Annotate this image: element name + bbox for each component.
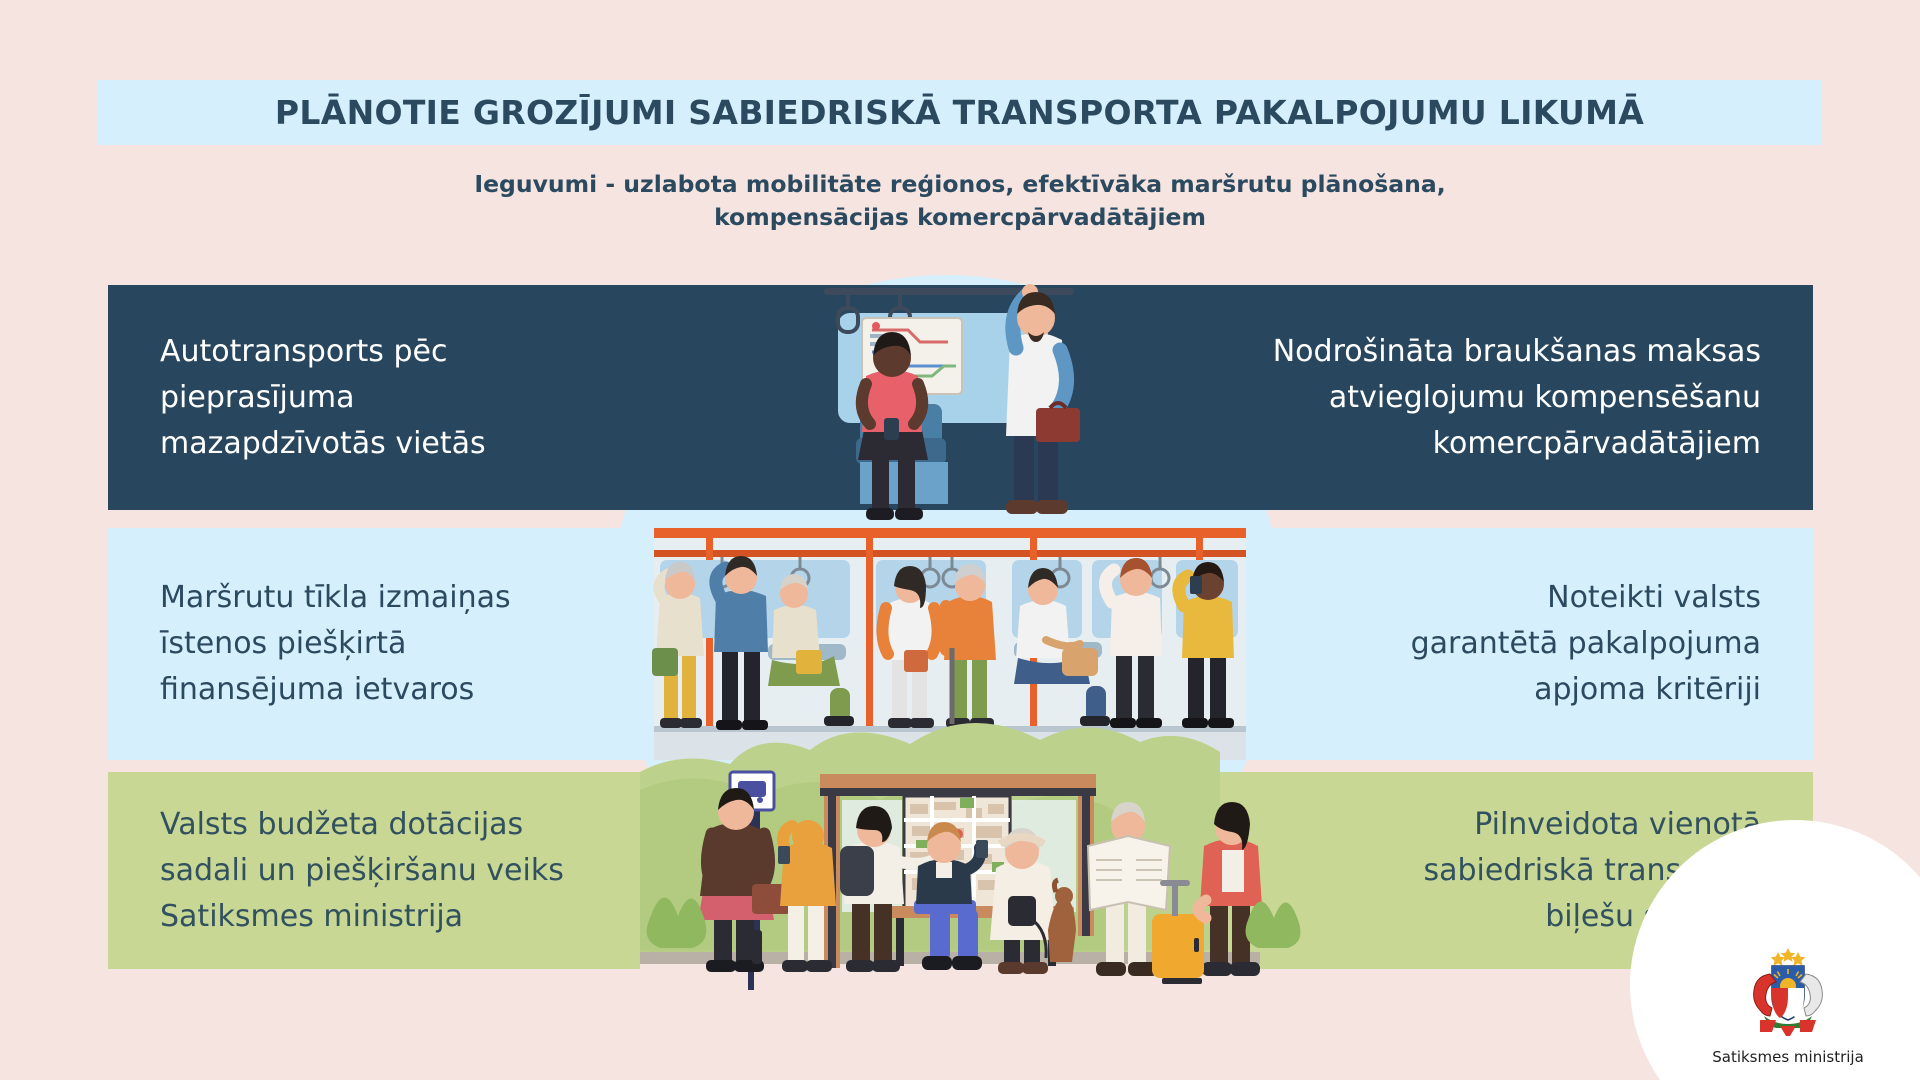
content-row-2: Maršrutu tīkla izmaiņas īstenos piešķirt… bbox=[108, 528, 1813, 760]
content-row-1: Autotransports pēc pieprasījuma mazapdzī… bbox=[108, 285, 1813, 510]
row-3-left-text: Valsts budžeta dotācijas sadali un piešķ… bbox=[108, 802, 668, 940]
row-1-left-text: Autotransports pēc pieprasījuma mazapdzī… bbox=[108, 329, 668, 467]
page-title: PLĀNOTIE GROZĪJUMI SABIEDRISKĀ TRANSPORT… bbox=[275, 93, 1644, 132]
content-row-3: Valsts budžeta dotācijas sadali un piešķ… bbox=[108, 772, 1813, 969]
subtitle: Ieguvumi - uzlabota mobilitāte reģionos,… bbox=[0, 168, 1920, 234]
row-2-left-text: Maršrutu tīkla izmaiņas īstenos piešķirt… bbox=[108, 575, 668, 713]
subtitle-line-1: Ieguvumi - uzlabota mobilitāte reģionos,… bbox=[0, 168, 1920, 201]
title-banner: PLĀNOTIE GROZĪJUMI SABIEDRISKĀ TRANSPORT… bbox=[98, 80, 1821, 145]
row-2-right-text: Noteikti valsts garantētā pakalpojuma ap… bbox=[1253, 575, 1813, 713]
row-1-right-text: Nodrošināta braukšanas maksas atviegloju… bbox=[1253, 329, 1813, 467]
subtitle-line-2: kompensācijas komercpārvadātājiem bbox=[0, 201, 1920, 234]
ministry-logo: Satiksmes ministrija bbox=[1590, 930, 1920, 1080]
logo-caption: Satiksmes ministrija bbox=[1698, 1048, 1878, 1066]
latvian-coat-of-arms-icon bbox=[1734, 946, 1842, 1042]
